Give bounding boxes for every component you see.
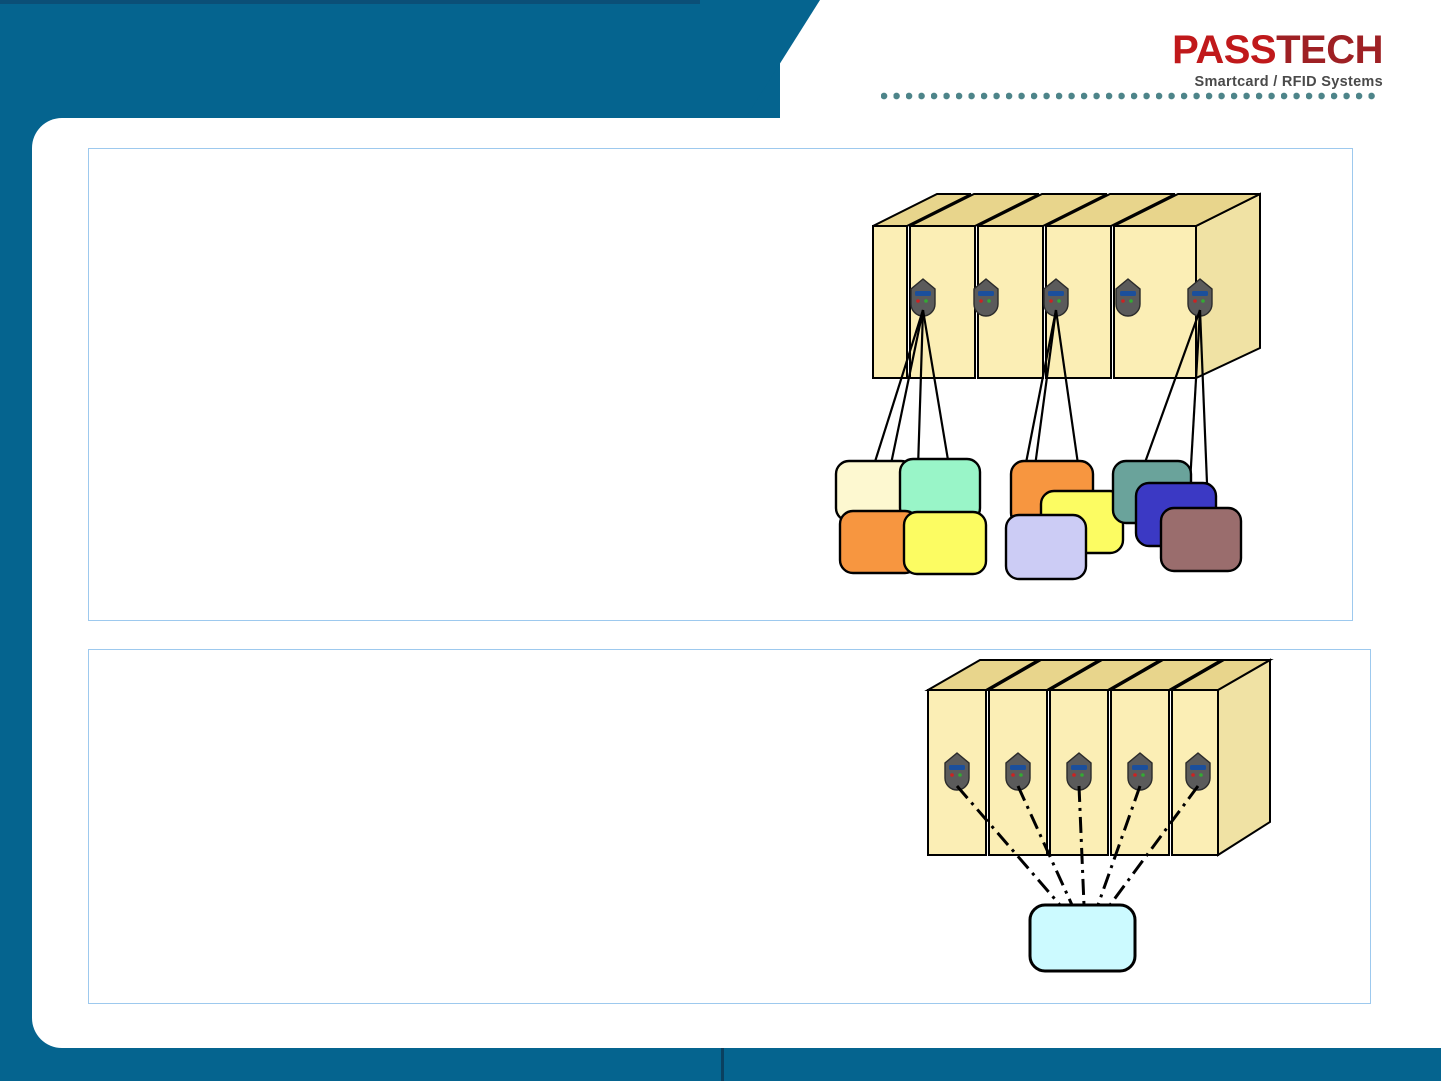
card-group-2 (1006, 461, 1123, 579)
header-dotted-rule (881, 92, 1381, 100)
master-card[interactable] (1030, 905, 1135, 971)
logo-wordmark: PASSTECH (1157, 30, 1383, 70)
illustration-lockers-individual-cards (818, 178, 1298, 603)
card-group-1 (836, 459, 986, 574)
card-item[interactable] (904, 512, 986, 574)
passtech-logo: PASSTECH Smartcard / RFID Systems (1157, 30, 1383, 90)
footer-divider (721, 1048, 724, 1081)
slide-root: PASSTECH Smartcard / RFID Systems (0, 0, 1441, 1081)
card-item[interactable] (1006, 515, 1086, 579)
logo-word-tech: TECH (1276, 28, 1383, 72)
illustration-lockers-master-card (900, 650, 1320, 995)
locker-bank-bottom (928, 660, 1270, 855)
slide-body-card-right-cap (1380, 118, 1441, 1048)
logo-word-pass: PASS (1172, 28, 1276, 72)
logo-tagline: Smartcard / RFID Systems (1157, 75, 1383, 90)
card-item[interactable] (1161, 508, 1241, 571)
card-group-3 (1113, 461, 1241, 571)
